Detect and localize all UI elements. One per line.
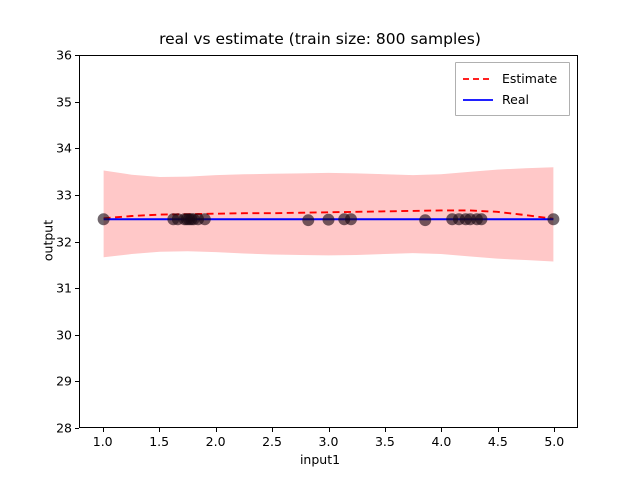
legend-item-estimate: Estimate — [462, 68, 563, 89]
x-tick-label: 4.5 — [468, 434, 528, 449]
scatter-point — [419, 214, 431, 226]
x-tick-mark — [272, 428, 273, 432]
x-tick-label: 3.0 — [299, 434, 359, 449]
x-tick-label: 2.0 — [186, 434, 246, 449]
matplotlib-figure: real vs estimate (train size: 800 sample… — [0, 0, 640, 480]
scatter-point — [475, 213, 487, 225]
scatter-point — [345, 213, 357, 225]
page-title: real vs estimate (train size: 800 sample… — [0, 30, 640, 48]
y-tick-label: 34 — [12, 141, 72, 156]
y-tick-label: 28 — [12, 421, 72, 436]
y-tick-label: 29 — [12, 374, 72, 389]
x-axis-label: input1 — [0, 452, 640, 467]
x-tick-mark — [329, 428, 330, 432]
scatter-point — [547, 213, 559, 225]
scatter-point — [323, 214, 335, 226]
y-tick-label: 35 — [12, 94, 72, 109]
x-tick-mark — [216, 428, 217, 432]
x-tick-mark — [385, 428, 386, 432]
real-line-swatch — [462, 94, 494, 106]
y-tick-label: 36 — [12, 48, 72, 63]
x-tick-label: 5.0 — [524, 434, 584, 449]
scatter-point — [98, 213, 110, 225]
y-tick-label: 30 — [12, 327, 72, 342]
y-tick-mark — [75, 428, 79, 429]
legend: Estimate Real — [455, 62, 570, 116]
x-tick-label: 1.0 — [73, 434, 133, 449]
x-tick-label: 2.5 — [242, 434, 302, 449]
x-tick-mark — [498, 428, 499, 432]
legend-item-real: Real — [462, 89, 563, 110]
x-tick-mark — [159, 428, 160, 432]
scatter-point — [199, 213, 211, 225]
x-tick-label: 3.5 — [355, 434, 415, 449]
x-tick-mark — [441, 428, 442, 432]
y-axis-label: output — [41, 181, 56, 301]
legend-label-estimate: Estimate — [502, 71, 557, 86]
x-tick-mark — [554, 428, 555, 432]
legend-label-real: Real — [502, 92, 529, 107]
x-tick-mark — [103, 428, 104, 432]
estimate-line-swatch — [462, 73, 494, 85]
scatter-point — [302, 214, 314, 226]
x-tick-label: 1.5 — [129, 434, 189, 449]
x-tick-label: 4.0 — [411, 434, 471, 449]
